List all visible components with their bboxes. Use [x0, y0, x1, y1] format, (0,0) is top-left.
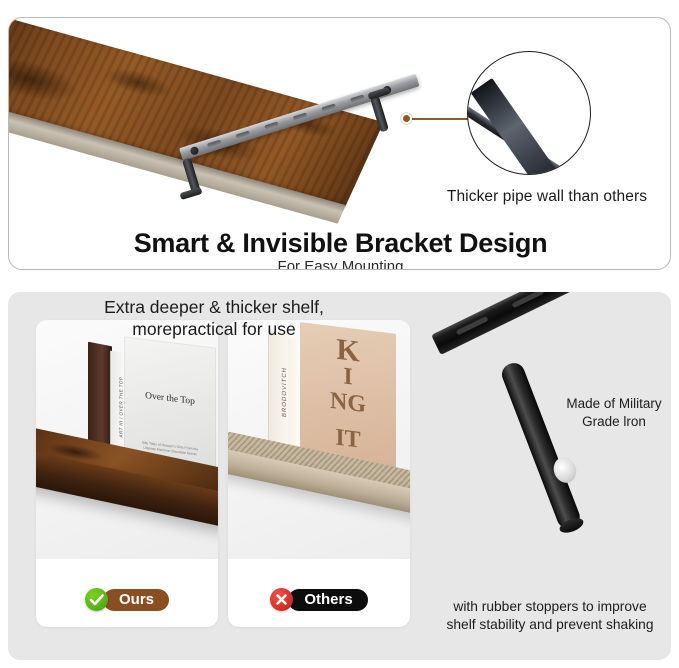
page-subtitle: For Easy Mounting: [9, 258, 671, 270]
bracket-pipe-tip: [558, 515, 586, 535]
badge-others: Others: [228, 588, 410, 611]
page-title: Smart & Invisible Bracket Design: [9, 228, 671, 259]
left-caption-line1: Extra deeper & thicker shelf,: [14, 296, 414, 318]
callout-connector-line: [407, 118, 469, 120]
x-circle-icon: [270, 588, 293, 611]
zoom-detail-circle: [467, 51, 591, 175]
callout-caption-material-line2: Grade lron: [551, 413, 677, 431]
callout-caption-stopper-line1: with rubber stoppers to improve: [424, 598, 676, 616]
callout-dot-pipe-wall: [401, 113, 412, 124]
callout-caption-stopper-line2: shelf stability and prevent shaking: [424, 616, 676, 634]
product-infographic: Thicker pipe wall than others Smart & In…: [0, 0, 679, 668]
left-caption: Extra deeper & thicker shelf, morepracti…: [14, 296, 414, 341]
callout-caption-material-line1: Made of Military: [551, 395, 677, 413]
comparison-card-ours: ART III / OVER THE TOP Over the Top Sill…: [36, 320, 218, 627]
book-title: Over the Top: [134, 390, 206, 409]
check-circle-icon: [85, 588, 108, 611]
badge-label-ours: Ours: [103, 589, 169, 611]
left-caption-line2: morepractical for use: [14, 318, 414, 340]
callout-caption-stopper: with rubber stoppers to improve shelf st…: [424, 598, 676, 635]
ours-photo: ART III / OVER THE TOP Over the Top Sill…: [36, 320, 218, 559]
bracket-pipe: [499, 360, 583, 532]
top-feature-panel: Thicker pipe wall than others Smart & In…: [8, 17, 671, 270]
badge-label-others: Others: [288, 589, 367, 611]
bracket-wall-plate: [431, 292, 667, 355]
black-bracket-image: [426, 292, 671, 592]
bracket-rod-cap-left: [179, 187, 202, 200]
metal-bracket-image: [181, 106, 431, 206]
badge-ours: Ours: [36, 588, 218, 611]
others-photo: BRODOVITCH K I NG IT: [228, 320, 410, 559]
detail-caption: Thicker pipe wall than others: [422, 188, 671, 206]
comparison-card-others: BRODOVITCH K I NG IT Others: [228, 320, 410, 627]
book-spine-text: ART III / OVER THE TOP: [119, 370, 124, 445]
callout-caption-material: Made of Military Grade lron: [551, 395, 677, 431]
